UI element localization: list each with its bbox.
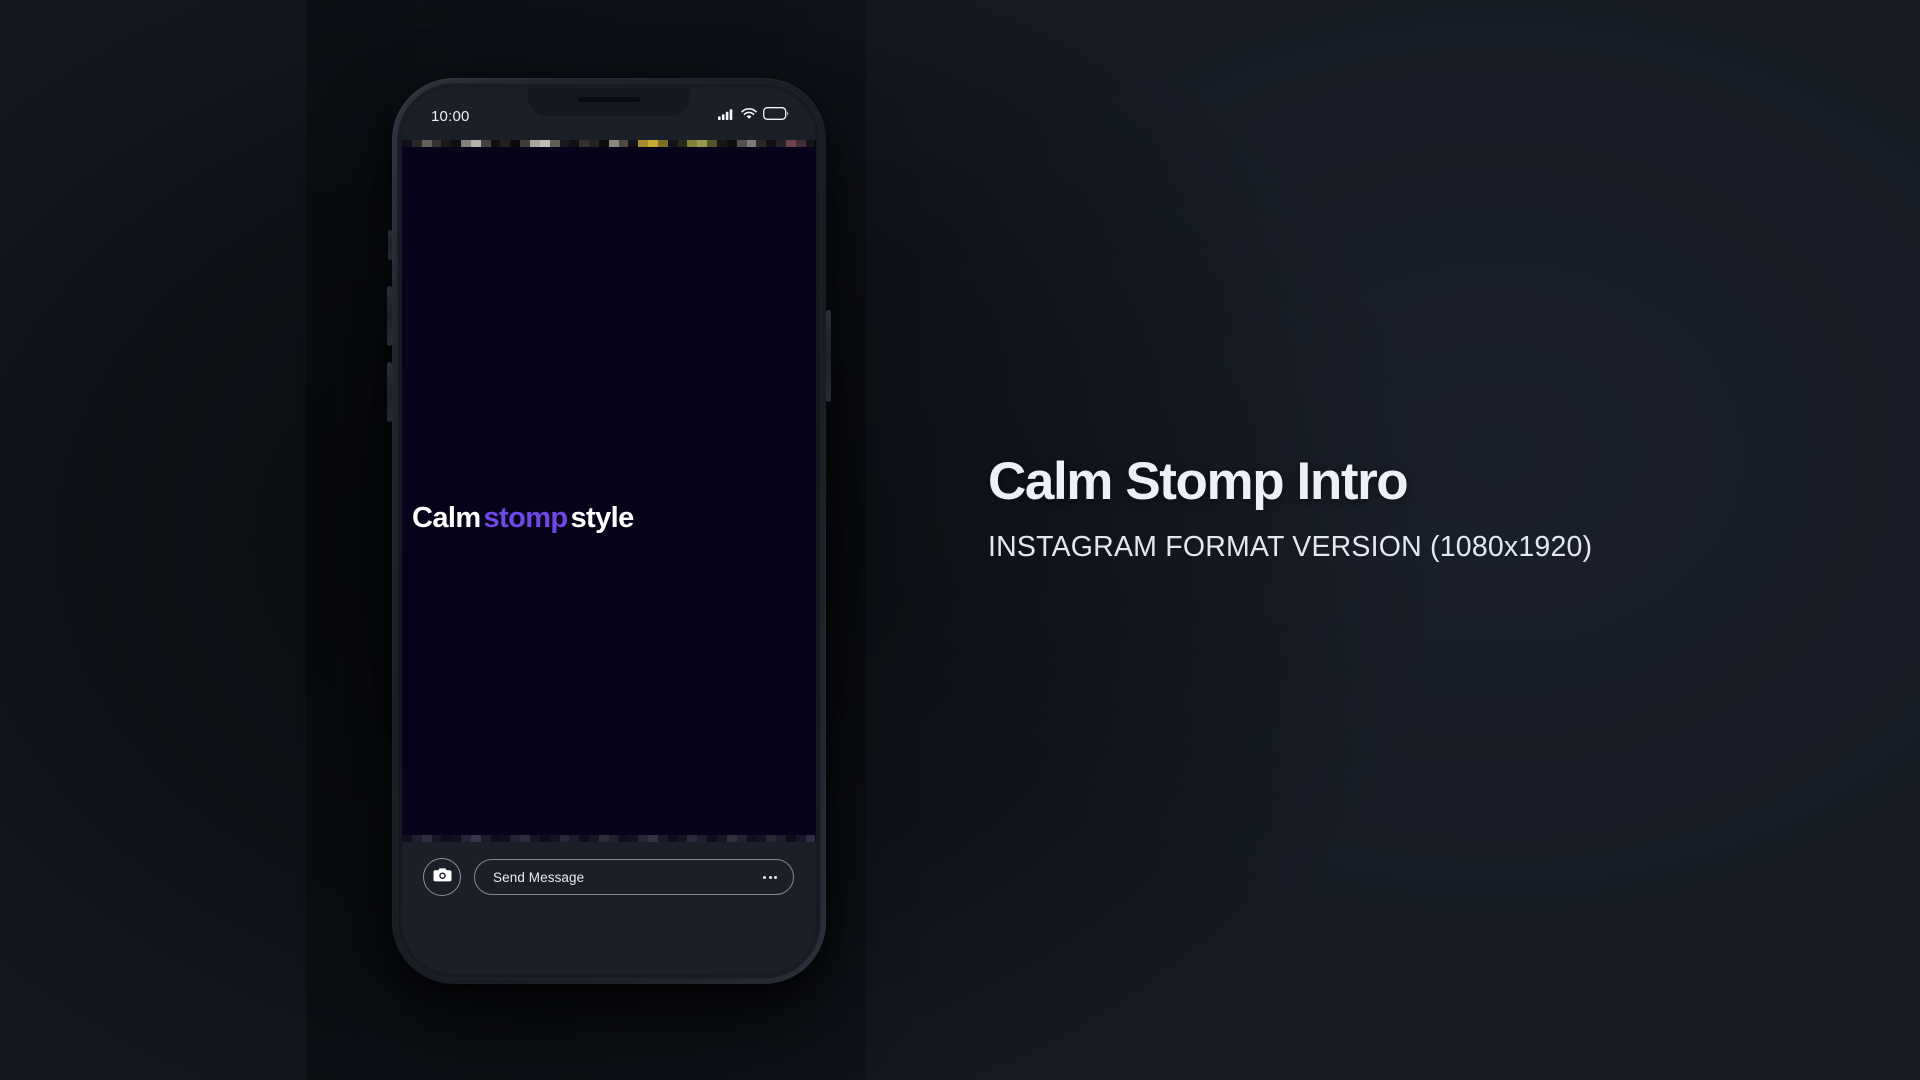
phone-mockup: 10:00 xyxy=(392,78,826,984)
phone-screen: 10:00 xyxy=(402,88,816,974)
filmstrip-frame xyxy=(628,140,638,147)
filmstrip-frame xyxy=(806,835,816,842)
filmstrip-frame xyxy=(727,140,737,147)
filmstrip-frame xyxy=(687,835,697,842)
filmstrip-frame xyxy=(579,140,589,147)
status-bar-icons xyxy=(718,103,789,125)
filmstrip-frame xyxy=(609,140,619,147)
silent-switch[interactable] xyxy=(388,230,392,260)
filmstrip-frame xyxy=(471,140,481,147)
filmstrip-frame xyxy=(432,835,442,842)
filmstrip-frame xyxy=(412,140,422,147)
filmstrip-frame xyxy=(678,835,688,842)
filmstrip-frame xyxy=(697,140,707,147)
filmstrip-frame xyxy=(648,835,658,842)
filmstrip-frame xyxy=(747,140,757,147)
send-message-placeholder: Send Message xyxy=(493,870,584,885)
filmstrip-frame xyxy=(619,140,629,147)
filmstrip-frame xyxy=(451,835,461,842)
filmstrip-frame xyxy=(717,140,727,147)
battery-icon xyxy=(763,107,789,125)
power-button[interactable] xyxy=(826,310,831,402)
filmstrip-frame xyxy=(550,140,560,147)
camera-button[interactable] xyxy=(423,858,461,896)
filmstrip-frame xyxy=(550,835,560,842)
story-headline: Calmstompstyle xyxy=(412,502,637,535)
filmstrip-frame xyxy=(766,140,776,147)
filmstrip-frame xyxy=(481,835,491,842)
filmstrip-frame xyxy=(658,140,668,147)
filmstrip-frame xyxy=(619,835,629,842)
filmstrip-frame xyxy=(500,835,510,842)
background-band-left xyxy=(0,0,306,1080)
filmstrip-frame xyxy=(796,835,806,842)
filmstrip-frame xyxy=(737,140,747,147)
filmstrip-frame xyxy=(560,835,570,842)
filmstrip-frame xyxy=(510,140,520,147)
filmstrip-top xyxy=(402,140,816,147)
filmstrip-frame xyxy=(402,140,412,147)
filmstrip-frame xyxy=(432,140,442,147)
filmstrip-frame xyxy=(806,140,816,147)
camera-icon xyxy=(433,867,452,888)
story-viewport[interactable]: Calmstompstyle xyxy=(402,140,816,842)
page-subtitle: INSTAGRAM FORMAT VERSION (1080x1920) xyxy=(988,532,1748,563)
volume-down-button[interactable] xyxy=(387,362,392,422)
filmstrip-bottom xyxy=(402,835,816,842)
filmstrip-frame xyxy=(707,835,717,842)
volume-up-button[interactable] xyxy=(387,286,392,346)
filmstrip-frame xyxy=(569,140,579,147)
filmstrip-frame xyxy=(402,835,412,842)
filmstrip-frame xyxy=(766,835,776,842)
filmstrip-frame xyxy=(471,835,481,842)
filmstrip-frame xyxy=(481,140,491,147)
filmstrip-frame xyxy=(491,835,501,842)
page-title: Calm Stomp Intro xyxy=(988,455,1748,508)
filmstrip-frame xyxy=(589,140,599,147)
filmstrip-frame xyxy=(668,835,678,842)
filmstrip-frame xyxy=(737,835,747,842)
dot xyxy=(763,876,766,879)
filmstrip-frame xyxy=(520,835,530,842)
filmstrip-frame xyxy=(530,140,540,147)
filmstrip-frame xyxy=(628,835,638,842)
filmstrip-frame xyxy=(678,140,688,147)
filmstrip-frame xyxy=(756,835,766,842)
filmstrip-frame xyxy=(510,835,520,842)
filmstrip-frame xyxy=(687,140,697,147)
filmstrip-frame xyxy=(609,835,619,842)
filmstrip-frame xyxy=(422,835,432,842)
more-options-icon[interactable] xyxy=(763,876,777,879)
filmstrip-frame xyxy=(461,140,471,147)
story-action-bar: Send Message xyxy=(402,842,816,974)
filmstrip-frame xyxy=(579,835,589,842)
filmstrip-frame xyxy=(747,835,757,842)
filmstrip-frame xyxy=(786,835,796,842)
filmstrip-frame xyxy=(599,140,609,147)
filmstrip-frame xyxy=(441,140,451,147)
filmstrip-frame xyxy=(412,835,422,842)
filmstrip-frame xyxy=(648,140,658,147)
filmstrip-frame xyxy=(727,835,737,842)
filmstrip-frame xyxy=(540,140,550,147)
filmstrip-frame xyxy=(599,835,609,842)
filmstrip-frame xyxy=(756,140,766,147)
filmstrip-frame xyxy=(786,140,796,147)
filmstrip-frame xyxy=(560,140,570,147)
filmstrip-frame xyxy=(638,835,648,842)
dot xyxy=(769,876,772,879)
filmstrip-frame xyxy=(530,835,540,842)
story-headline-word-accent: stomp xyxy=(484,502,568,534)
filmstrip-frame xyxy=(540,835,550,842)
filmstrip-frame xyxy=(569,835,579,842)
filmstrip-frame xyxy=(589,835,599,842)
filmstrip-frame xyxy=(638,140,648,147)
filmstrip-frame xyxy=(461,835,471,842)
cellular-signal-icon xyxy=(718,107,735,125)
filmstrip-frame xyxy=(796,140,806,147)
filmstrip-frame xyxy=(707,140,717,147)
dot xyxy=(774,876,777,879)
filmstrip-frame xyxy=(697,835,707,842)
filmstrip-frame xyxy=(776,140,786,147)
earpiece-speaker-icon xyxy=(578,97,640,102)
notch xyxy=(528,88,690,116)
filmstrip-frame xyxy=(717,835,727,842)
caption-block: Calm Stomp Intro INSTAGRAM FORMAT VERSIO… xyxy=(988,455,1748,563)
story-headline-word-1: Calm xyxy=(412,502,481,534)
status-bar-time: 10:00 xyxy=(431,104,470,125)
send-message-input[interactable]: Send Message xyxy=(474,859,794,895)
filmstrip-frame xyxy=(668,140,678,147)
filmstrip-frame xyxy=(451,140,461,147)
filmstrip-frame xyxy=(441,835,451,842)
filmstrip-frame xyxy=(520,140,530,147)
story-headline-word-3: style xyxy=(571,502,634,534)
screenshot-canvas: 10:00 xyxy=(0,0,1920,1080)
wifi-icon xyxy=(741,107,757,125)
filmstrip-frame xyxy=(500,140,510,147)
filmstrip-frame xyxy=(776,835,786,842)
filmstrip-frame xyxy=(491,140,501,147)
filmstrip-frame xyxy=(422,140,432,147)
filmstrip-frame xyxy=(658,835,668,842)
story-action-row: Send Message xyxy=(423,858,794,896)
